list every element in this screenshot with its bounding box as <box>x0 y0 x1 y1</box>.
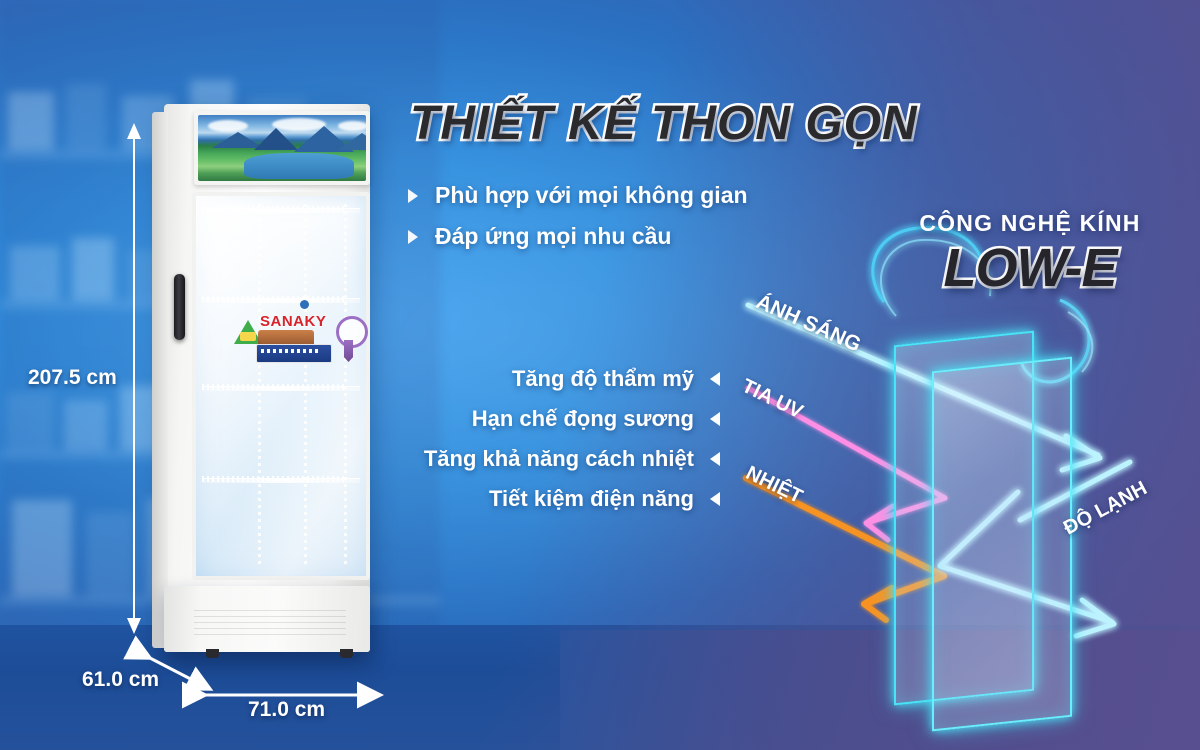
feature-label: Hạn chế đọng sương <box>472 406 694 432</box>
lowe-subtitle: CÔNG NGHỆ KÍNH <box>880 212 1180 235</box>
fridge-vent-grille <box>194 610 346 640</box>
benefit-label: Phù hợp với mọi không gian <box>435 182 748 209</box>
benefit-label: Đáp ứng mọi nhu cầu <box>435 223 671 250</box>
lowe-heading-block: CÔNG NGHỆ KÍNH LOW-E <box>880 212 1180 295</box>
page-title: THIẾT KẾ THON GỌN <box>410 100 918 148</box>
feature-item-0: Tăng độ thẩm mỹ <box>380 366 720 392</box>
triangle-bullet-icon <box>408 189 421 203</box>
lowe-wordmark: LOW-E <box>880 241 1180 295</box>
triangle-bullet-icon <box>707 452 720 466</box>
lightbox-landscape-graphic <box>198 115 366 181</box>
feature-label: Tăng khả năng cách nhiệt <box>424 446 694 472</box>
dimension-label-height: 207.5 cm <box>28 366 117 390</box>
fridge-foot-left <box>206 649 219 658</box>
feature-label: Tăng độ thẩm mỹ <box>512 366 694 392</box>
dimension-line-height <box>133 134 135 622</box>
fridge-foot-right <box>340 649 353 658</box>
benefit-item-1: Đáp ứng mọi nhu cầu <box>408 223 748 250</box>
fridge-door-handle <box>174 274 185 340</box>
triangle-bullet-icon <box>707 492 720 506</box>
benefit-item-0: Phù hợp với mọi không gian <box>408 182 748 209</box>
triangle-bullet-icon <box>707 412 720 426</box>
decal-lowe-sticker <box>256 344 332 363</box>
dimension-arrow-height-top <box>127 120 141 139</box>
feature-label: Tiết kiệm điện năng <box>489 486 694 512</box>
fridge-glass-door: SANAKY <box>192 192 370 580</box>
dimension-label-depth: 61.0 cm <box>82 668 159 692</box>
feature-item-2: Tăng khả năng cách nhiệt <box>380 446 720 472</box>
fridge-top-lightbox <box>194 111 370 185</box>
dimension-label-width: 71.0 cm <box>248 698 325 722</box>
brand-logo-sanaky: SANAKY <box>260 314 320 330</box>
feature-item-3: Tiết kiệm điện năng <box>380 486 720 512</box>
infographic-canvas: SANAKY 207.5 cm <box>0 0 1200 750</box>
feature-item-1: Hạn chế đọng sương <box>380 406 720 432</box>
product-refrigerator-image: SANAKY <box>152 104 384 664</box>
glass-pane-front <box>932 357 1072 732</box>
lowe-feature-list: Tăng độ thẩm mỹ Hạn chế đọng sương Tăng … <box>380 366 720 526</box>
decal-moon-icon <box>300 300 309 309</box>
triangle-bullet-icon <box>707 372 720 386</box>
benefit-list: Phù hợp với mọi không gian Đáp ứng mọi n… <box>408 182 748 264</box>
triangle-bullet-icon <box>408 230 421 244</box>
dimension-arrow-height-bottom <box>127 618 141 637</box>
